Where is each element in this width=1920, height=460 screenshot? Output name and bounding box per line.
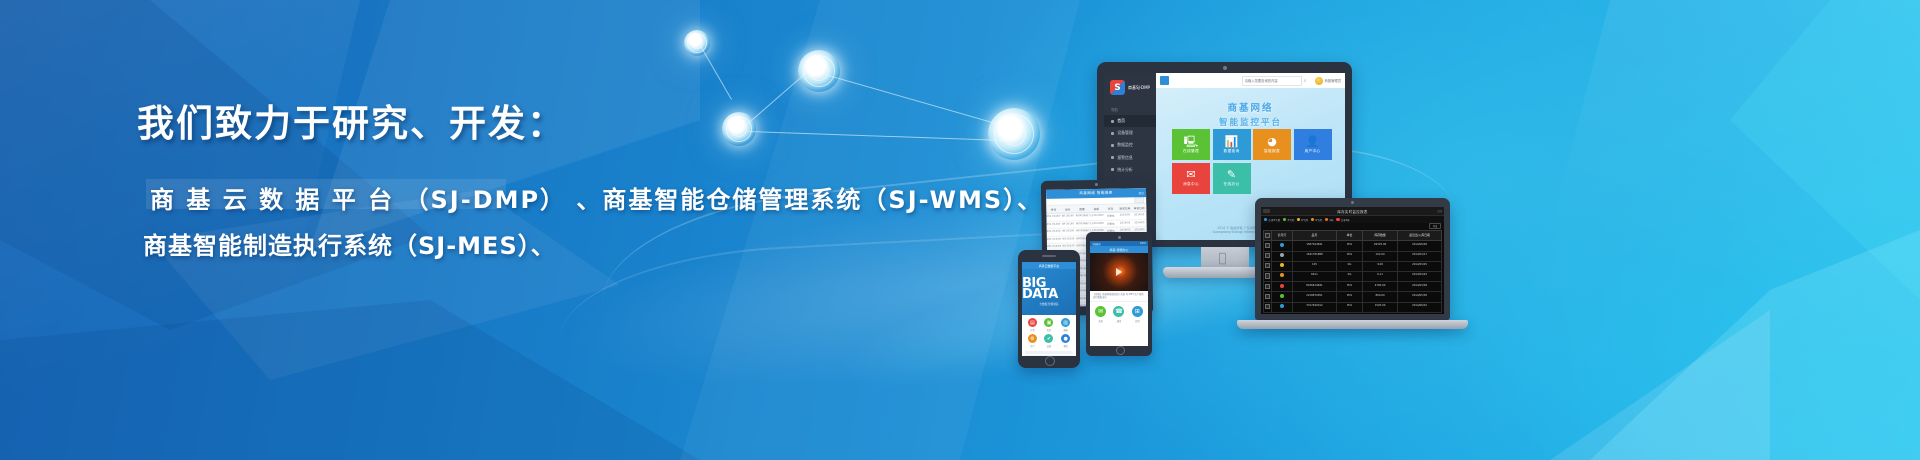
laptop-screen: 库存实时监控报表 关闭 小于3个月3个月6个月9个月1年大于1年 导出 信号灯 … [1261,207,1444,314]
user-icon: ● [1061,334,1070,343]
laptop-base [1237,320,1468,329]
tile-label: 数据查询 [1224,149,1240,154]
play-icon[interactable] [1116,268,1122,276]
table-cell: 201-01440001 [1046,214,1060,221]
cell-product-code: 1567044841 [1293,241,1337,250]
table-row[interactable]: 2218870051PCS860.002014/05/30 [1263,292,1442,302]
window-titlebar: 库存实时监控报表 关闭 [1261,207,1444,216]
battery-label: 100% [1140,242,1146,245]
column-header: 制单日期 [1118,204,1132,211]
page-title: 我们致力于研究、开发： [137,93,566,147]
brand-logo: S 商基SJ-DMP [1110,80,1150,95]
device-icon [1111,132,1114,135]
shortcut-contacts[interactable]: ☎ 通讯 [1111,306,1126,323]
table-cell: 201-01440001 [1047,221,1061,228]
shortcut-apps[interactable]: ⊞ 应用 [1130,306,1145,323]
table-header-row: 信号灯 品号 单位 库存数量 最近出/入库日期 [1263,230,1442,241]
shortcut-label: 我的 [1063,344,1067,348]
tile-label: 消息中心 [1183,182,1199,187]
monitor-icon [1111,144,1114,147]
shortcut-label: 品质 [1047,344,1051,348]
status-lamp-icon [1280,304,1284,308]
tile-label: 智能报表 [1264,149,1280,154]
column-header-qty: 库存数量 [1363,231,1398,240]
row-checkbox [1264,262,1272,271]
window-menu-icon[interactable] [1263,209,1270,213]
table-cell: 5,130.0000 [1089,213,1103,220]
legend-label: 6个月 [1301,218,1308,222]
table-row[interactable]: 1567044841PCS29325.002014/06/05 [1263,241,1442,251]
column-header-unit: 单位 [1337,231,1363,240]
table-cell: 201-01440001 [1047,229,1061,236]
checkbox-icon[interactable] [1265,304,1270,309]
legend-item: 3个月 [1283,218,1294,222]
table-cell: 2014/05 [1118,220,1132,227]
status-lamp-icon [1297,218,1300,221]
webcam-icon [1094,183,1097,186]
phone-title: 商基云数据平台 [1039,264,1059,268]
hero-banner: 我们致力于研究、开发： 商 基 云 数 据 平 台 （SJ-DMP） 、商基智能… [0,0,1920,460]
column-header: 审核日期 [1132,204,1146,211]
phone-device: 商基云数据平台 BIG DATA 大数据·智能制造 ▤ 订单 ▣ 库存 [1018,250,1080,368]
column-header-date: 最近出/入库日期 [1398,231,1441,240]
checkbox-icon[interactable] [1265,253,1270,258]
legend-label: 大于1年 [1341,218,1350,222]
legend-label: 3个月 [1287,218,1294,222]
dmp-tile-grid: 🖳 在线管理 📊 数据查询 ◕ 智能报表 👤 [1172,129,1332,194]
table-cell: 5,130.0000 [1089,221,1103,228]
sidebar-item-label: 统计分析 [1117,167,1133,173]
gear-icon: ⚙ [1028,334,1037,343]
status-lamp-icon [1325,218,1328,221]
video-caption: 【视频】商基智能制造执行系统 SJ-MES 生产现场实时看板演示 [1090,291,1148,302]
hero-bigdata-text: BIG DATA [1022,278,1076,301]
row-checkbox [1264,272,1272,281]
status-lamp-icon [1280,243,1284,247]
hero-sub-text: 大数据·智能制造 [1040,302,1059,306]
cell-date: 2014/04/22 [1398,272,1441,281]
table-row[interactable]: 6611KG6.112014/04/22 [1263,272,1442,282]
cell-status-lamp [1272,292,1293,301]
cell-status-lamp [1272,303,1293,312]
table-row[interactable]: 125KG9.002014/04/15 [1263,262,1442,272]
phone-hero: BIG DATA 大数据·智能制造 [1022,269,1076,315]
tablet-portrait-device: 中国移动 100% 商基·智能办公 【视频】商基智能制造执行系统 SJ-MES … [1086,232,1152,356]
search-box[interactable]: ⌕ [1242,76,1307,86]
window-title: 库存实时监控报表 [1337,209,1367,214]
legend-label: 9个月 [1315,218,1322,222]
shortcut-order[interactable]: ▤ 订单 [1025,318,1040,332]
cell-quantity: 860.00 [1363,292,1398,301]
tile-user-center[interactable]: 👤 用户中心 [1294,129,1332,160]
phone-screen: 商基云数据平台 BIG DATA 大数据·智能制造 ▤ 订单 ▣ 库存 [1022,262,1076,356]
shortcut-label: 通讯 [1117,319,1121,323]
checkbox-icon[interactable] [1265,233,1270,238]
export-button[interactable]: 导出 [1429,223,1441,229]
status-lamp-icon [1311,218,1314,221]
apple-logo-icon:  [1219,251,1227,266]
cell-date: 2014/04/15 [1398,262,1441,271]
legend-item: 1年 [1325,218,1333,222]
table-row[interactable]: 1641781888PCS102.002014/04/17 [1263,252,1442,262]
hero-subtitle: 智能监控平台 [1156,116,1345,128]
tile-message-center[interactable]: ✉ 消息中心 [1172,163,1210,194]
cell-quantity: 6.11 [1363,272,1398,281]
cell-date: 2014/06/05 [1398,241,1441,250]
banner-body-line-1: 商 基 云 数 据 平 台 （SJ-DMP） 、商基智能仓储管理系统（SJ-WM… [150,180,1043,215]
menu-toggle-icon[interactable] [1160,76,1169,85]
shortcut-label: 应用 [1135,319,1139,323]
sidebar-item-home[interactable]: 首页 [1104,115,1156,127]
legend-label: 小于3个月 [1268,218,1280,222]
row-checkbox [1264,282,1272,291]
cell-unit: PCS [1337,282,1363,291]
inventory-table: 信号灯 品号 单位 库存数量 最近出/入库日期 1567044841PCS293… [1261,229,1444,314]
cell-unit: KG [1337,272,1363,281]
webcam-icon [1223,66,1227,70]
status-lamp-icon [1280,273,1284,277]
webcam-icon [1351,201,1354,204]
cell-date: 2014/06/01 [1398,303,1441,312]
cell-product-code: 2218870051 [1293,292,1337,301]
dmp-hero: 商基网络 智能监控平台 [1156,100,1345,128]
cell-status-lamp [1272,282,1293,291]
cell-date: 2014/04/17 [1398,252,1441,261]
row-checkbox [1264,292,1272,301]
legend-label: 1年 [1329,218,1333,222]
sidebar-item-label: 首页 [1117,118,1125,124]
row-checkbox [1264,252,1272,261]
banner-body-line-2: 商基智能制造执行系统（SJ-MES）、 [143,226,556,261]
status-lamp-icon [1280,284,1284,288]
device-cluster: S 商基SJ-DMP 导航 首页 设备管理 [1000,0,1920,460]
table-cell: 2014/05 [1132,220,1146,227]
phone-icon: ☎ [1113,306,1124,317]
table-cell: 80003682 [1075,213,1089,220]
legend-item: 大于1年 [1336,218,1349,222]
tablet-title: 商基网络 智能报表 [1079,191,1113,197]
shortcut-quality[interactable]: ✔ 品质 [1042,334,1057,348]
pie-chart-icon: ◕ [1267,136,1277,147]
shortcut-stock[interactable]: ▣ 库存 [1042,318,1057,332]
logo-mark-icon: S [1110,80,1125,95]
status-lamp-icon [1280,294,1284,298]
sidebar-section-caption: 导航 [1104,105,1156,115]
bar-chart-icon: 📊 [1225,136,1239,147]
cell-unit: KG [1337,262,1363,271]
cell-quantity: 29325.00 [1363,241,1398,250]
check-icon: ✔ [1044,334,1053,343]
table-cell: 2014/05 [1118,213,1132,220]
column-header-code: 品号 [1293,231,1337,240]
close-icon[interactable]: 关闭 [1437,209,1442,213]
speaker-icon [1042,255,1056,257]
legend-item: 9个月 [1311,218,1322,222]
table-cell: 已审核 [1104,220,1118,227]
hero-title: 商基网络 [1156,100,1345,114]
search-input[interactable] [1242,76,1302,86]
home-button[interactable] [1045,356,1055,366]
cell-status-lamp [1272,272,1293,281]
grid-icon: ⊞ [1132,306,1143,317]
column-header-select [1264,231,1272,240]
checkbox-icon[interactable] [1265,243,1270,248]
app-shortcut-grid: ✉ 消息 ☎ 通讯 ⊞ 应用 [1090,302,1148,327]
shortcut-report[interactable]: ▥ 报表 [1058,318,1073,332]
app-title: 商基·智能办公 [1110,248,1129,252]
checkbox-icon[interactable] [1265,263,1270,268]
status-lamp-icon [1264,218,1267,221]
tablet-portrait-screen: 中国移动 100% 商基·智能办公 【视频】商基智能制造执行系统 SJ-MES … [1090,241,1148,346]
table-cell: 已审核 [1104,213,1118,220]
chart-icon [1111,168,1114,171]
home-icon [1111,120,1114,123]
alert-icon [1111,156,1114,159]
phone-shortcut-grid: ▤ 订单 ▣ 库存 ▥ 报表 ⚙ 生产 [1022,315,1076,351]
logo-text: 商基SJ-DMP [1128,85,1150,91]
table-cell: WI-20140 [1061,214,1075,221]
search-icon[interactable]: ⌕ [1304,78,1307,84]
legend-item: 小于3个月 [1264,218,1280,222]
cell-product-code: 8436619841 [1293,282,1337,291]
status-lamp-icon [1280,253,1284,257]
column-header: 品名 [1061,205,1075,212]
column-header: 数量 [1075,205,1089,212]
table-row[interactable]: 3317460012PCS1520.002014/06/01 [1263,303,1442,313]
sidebar-item-label: 设备管理 [1117,130,1133,136]
cell-quantity: 1520.00 [1363,303,1398,312]
cell-date: 2014/05/30 [1398,292,1441,301]
column-header-lamp: 信号灯 [1272,231,1293,240]
shortcut-profile[interactable]: ● 我的 [1058,334,1073,348]
banner-text-block: 我们致力于研究、开发： 商 基 云 数 据 平 台 （SJ-DMP） 、商基智能… [0,0,1000,460]
sidebar-item-label: 报警信息 [1117,155,1133,161]
cell-status-lamp [1272,241,1293,250]
list-item [1025,351,1073,354]
carrier-label: 中国移动 [1092,242,1101,246]
monitor-icon: 🖳 [1184,136,1199,147]
shortcut-production[interactable]: ⚙ 生产 [1025,334,1040,348]
cell-status-lamp [1272,252,1293,261]
table-cell: WI-20140 [1061,236,1075,243]
tile-online-manage[interactable]: 🖳 在线管理 [1172,129,1210,160]
sidebar-item-device[interactable]: 设备管理 [1104,127,1156,139]
shortcut-label: 库存 [1047,328,1051,332]
column-header: 单号 [1046,206,1060,213]
table-row[interactable]: 8436619841PCS4700.002014/03/28 [1263,282,1442,292]
status-legend: 小于3个月3个月6个月9个月1年大于1年 [1261,216,1444,223]
user-menu[interactable]: 商基管理员 [1315,77,1341,85]
video-player[interactable] [1090,253,1148,291]
status-lamp-icon [1336,218,1339,221]
order-icon: ▤ [1028,318,1037,327]
logout-link[interactable]: 退出 [1138,191,1144,195]
table-cell: WI-20140 [1061,229,1075,236]
user-name: 商基管理员 [1325,78,1341,83]
sidebar-item-stats[interactable]: 统计分析 [1104,164,1156,176]
column-header: 金额 [1089,205,1103,212]
avatar [1315,77,1323,85]
shortcut-label: 订单 [1030,328,1034,332]
user-icon: 👤 [1306,136,1320,147]
sidebar-item-monitor[interactable]: 数据监控 [1104,139,1156,151]
tile-online-office[interactable]: ✎ 在线办公 [1213,163,1251,194]
cell-quantity: 9.00 [1363,262,1398,271]
column-header: 状态 [1103,205,1117,212]
home-button[interactable] [1116,346,1125,355]
table-cell: 201-01440001 [1047,236,1061,243]
cell-unit: PCS [1337,252,1363,261]
tile-label: 用户中心 [1305,149,1321,154]
mail-icon: ✉ [1186,169,1195,180]
table-cell: 80003682 [1075,221,1089,228]
table-cell: 2014/05 [1132,212,1146,219]
status-lamp-icon [1283,218,1286,221]
checkbox-icon[interactable] [1265,294,1270,299]
status-lamp-icon [1280,263,1284,267]
dmp-topbar: ⌕ 商基管理员 [1156,73,1345,88]
cell-product-code: 3317460012 [1293,303,1337,312]
cell-quantity: 4700.00 [1363,282,1398,291]
checkbox-icon[interactable] [1265,273,1270,278]
cell-product-code: 1641781888 [1293,252,1337,261]
row-checkbox [1264,303,1272,312]
laptop-device: 库存实时监控报表 关闭 小于3个月3个月6个月9个月1年大于1年 导出 信号灯 … [1255,198,1450,320]
query-button[interactable] [1134,197,1144,203]
sidebar-item-alert[interactable]: 报警信息 [1104,152,1156,164]
cell-quantity: 102.00 [1363,252,1398,261]
cell-product-code: 6611 [1293,272,1337,281]
chat-icon: ✉ [1095,306,1106,317]
cell-product-code: 125 [1293,262,1337,271]
box-icon: ▣ [1044,318,1053,327]
tile-label: 在线办公 [1224,182,1240,187]
cell-date: 2014/03/28 [1398,282,1441,291]
edit-icon: ✎ [1227,169,1236,180]
shortcut-label: 消息 [1098,319,1102,323]
shortcut-label: 报表 [1063,328,1067,332]
shortcut-label: 生产 [1030,344,1034,348]
row-checkbox [1264,241,1272,250]
sidebar-item-label: 数据监控 [1117,142,1133,148]
tablet-titlebar: 商基网络 智能报表 退出 [1046,188,1146,199]
app-titlebar: 商基·智能办公 [1090,246,1148,253]
legend-item: 6个月 [1297,218,1308,222]
cell-unit: PCS [1337,241,1363,250]
table-body: 1567044841PCS29325.002014/06/05164178188… [1263,241,1442,312]
bar-chart-icon: ▥ [1061,318,1070,327]
table-cell: WI-20140 [1061,221,1075,228]
tile-label: 在线管理 [1183,149,1199,154]
tile-data-query[interactable]: 📊 数据查询 [1213,129,1251,160]
shortcut-message[interactable]: ✉ 消息 [1093,306,1108,323]
cell-unit: PCS [1337,303,1363,312]
tile-smart-report[interactable]: ◕ 智能报表 [1253,129,1291,160]
webcam-icon [1118,236,1121,239]
cell-unit: PCS [1337,292,1363,301]
checkbox-icon[interactable] [1265,284,1270,289]
phone-titlebar: 商基云数据平台 [1022,262,1076,269]
cell-status-lamp [1272,262,1293,271]
